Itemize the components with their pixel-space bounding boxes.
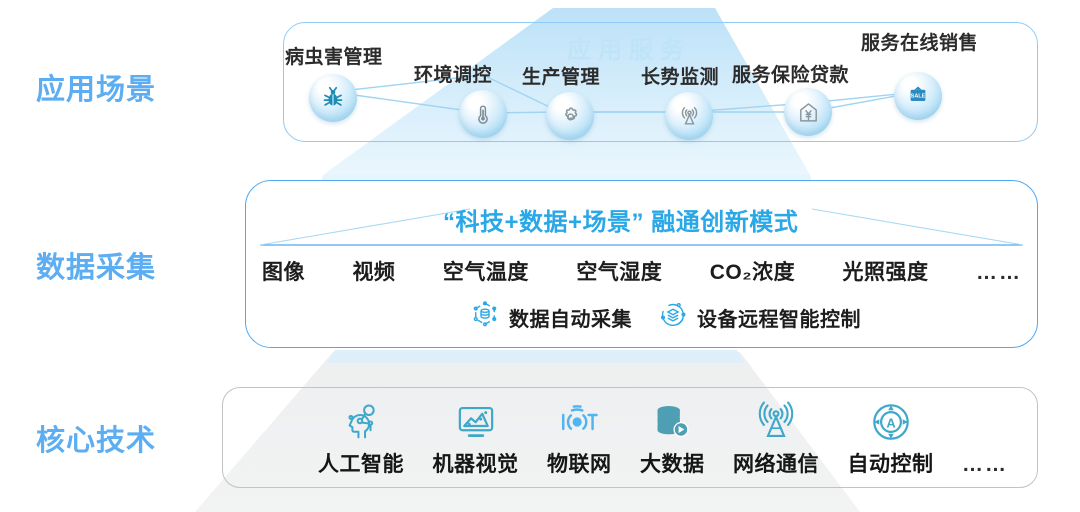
data-headline: “科技+数据+场景” 融通创新模式 <box>443 202 798 237</box>
row-title-application: 应用场景 <box>36 66 156 108</box>
tech-item-label: 网络通信 <box>733 448 819 478</box>
infographic-stage: 应用场景 数据采集 核心技术 应用服务 病虫害管理 环境调控 <box>0 0 1080 512</box>
bug-icon <box>309 74 357 122</box>
tech-item-machine-vision[interactable]: 机器视觉 <box>433 398 519 478</box>
data-item: 光照强度 <box>843 256 929 286</box>
tech-item-label: 人工智能 <box>318 448 404 478</box>
thermometer-icon <box>459 90 507 138</box>
data-feature-auto-collect: 数据自动采集 <box>470 300 632 335</box>
tech-item-label: …… <box>962 453 1008 478</box>
app-node-label: 服务在线销售 <box>861 28 978 55</box>
app-node-label: 长势监测 <box>641 62 719 89</box>
data-headline-text: “科技+数据+场景” 融通创新模式 <box>443 209 798 236</box>
data-feature-list: 数据自动采集 设备远程智能控制 <box>470 300 861 335</box>
tech-item-more: …… <box>962 403 1008 478</box>
data-feature-label: 数据自动采集 <box>509 303 632 332</box>
data-feature-remote-control: 设备远程智能控制 <box>658 300 861 335</box>
data-item: …… <box>976 261 1022 285</box>
sale-tag-icon: SALE <box>894 72 942 120</box>
signal-tower-icon <box>665 92 713 140</box>
data-item-list: 图像 视频 空气温度 空气湿度 CO₂浓度 光照强度 …… <box>262 256 1022 286</box>
tech-item-auto-control[interactable]: A 自动控制 <box>848 398 934 478</box>
app-node-label: 病虫害管理 <box>285 42 383 69</box>
app-node-label: 服务保险贷款 <box>732 60 849 87</box>
tech-item-network-comm[interactable]: 网络通信 <box>733 398 819 478</box>
tech-item-label: 大数据 <box>640 448 705 478</box>
data-feature-label: 设备远程智能控制 <box>697 303 861 332</box>
row-title-data: 数据采集 <box>36 244 156 286</box>
app-node-label: 生产管理 <box>522 62 600 89</box>
data-item: 空气湿度 <box>576 256 662 286</box>
data-item: 图像 <box>262 256 305 286</box>
machine-vision-icon <box>454 398 498 444</box>
layers-orbit-icon <box>658 300 688 335</box>
data-item: CO₂浓度 <box>710 256 795 286</box>
tech-item-label: 物联网 <box>547 448 612 478</box>
funnel-center-label: 应用服务 <box>567 30 691 65</box>
gear-icon <box>546 92 594 140</box>
iot-icon <box>557 398 601 444</box>
auto-control-icon: A <box>869 398 913 444</box>
network-tower-icon <box>754 398 798 444</box>
technology-item-list: 人工智能 机器视觉 <box>318 398 1008 478</box>
data-item: 视频 <box>352 256 395 286</box>
tech-item-label: 机器视觉 <box>433 448 519 478</box>
ai-head-icon <box>339 398 383 444</box>
big-data-icon <box>650 398 694 444</box>
tech-item-ai[interactable]: 人工智能 <box>318 398 404 478</box>
tech-item-big-data[interactable]: 大数据 <box>640 398 705 478</box>
svg-text:SALE: SALE <box>911 94 926 100</box>
row-title-technology: 核心技术 <box>36 417 156 459</box>
database-hex-icon <box>470 300 500 335</box>
data-item: 空气温度 <box>443 256 529 286</box>
tech-item-label: 自动控制 <box>848 448 934 478</box>
house-yuan-icon <box>784 88 832 136</box>
app-node-label: 环境调控 <box>414 60 492 87</box>
tech-item-iot[interactable]: 物联网 <box>547 398 612 478</box>
svg-text:A: A <box>886 416 895 431</box>
